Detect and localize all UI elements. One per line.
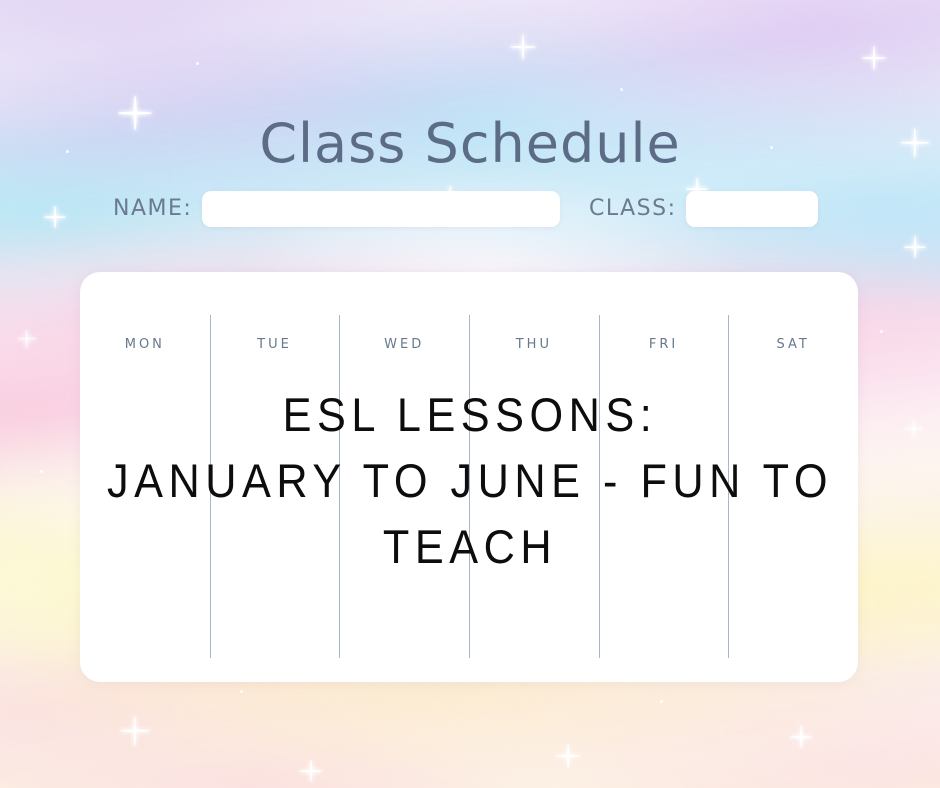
class-label: CLASS:: [589, 186, 677, 232]
page-title: Class Schedule: [0, 112, 940, 175]
name-label: NAME:: [113, 186, 192, 232]
class-input[interactable]: [686, 191, 818, 227]
student-info-row: NAME: CLASS:: [0, 186, 940, 232]
overlay-headline: ESL LESSONS: JANUARY TO JUNE - FUN TO TE…: [38, 382, 903, 580]
name-input[interactable]: [202, 191, 560, 227]
schedule-poster: Class Schedule NAME: CLASS: MON TUE WED …: [0, 0, 940, 788]
